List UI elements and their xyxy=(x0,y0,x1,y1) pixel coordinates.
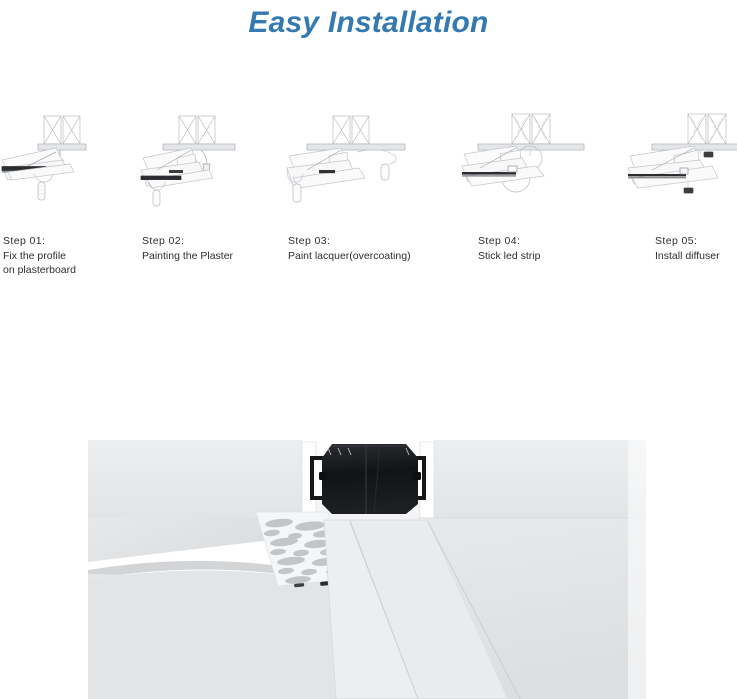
installation-step-5-line1: Install diffuser xyxy=(655,249,737,264)
installation-step-3-line1: Paint lacquer(overcoating) xyxy=(288,249,438,264)
page-root: Easy Installation xyxy=(0,0,737,699)
installation-steps: Step 01: Fix the profile on plasterboard xyxy=(0,108,737,283)
installation-step-2-line1: Painting the Plaster xyxy=(142,249,292,264)
installation-step-1-line1: Fix the profile xyxy=(3,249,153,264)
installation-step-3: Step 03: Paint lacquer(overcoating) xyxy=(285,108,435,283)
page-header: Easy Installation xyxy=(0,0,737,46)
installation-step-1-labels: Step 01: Fix the profile on plasterboard xyxy=(3,234,153,278)
installation-step-4-line1: Stick led strip xyxy=(478,249,628,264)
page-title: Easy Installation xyxy=(248,6,488,40)
installation-step-3-heading: Step 03: xyxy=(288,234,438,249)
installation-step-4-heading: Step 04: xyxy=(478,234,628,249)
led-strip-sticking-diagram-icon xyxy=(460,108,610,228)
product-photo-svg xyxy=(88,422,646,699)
plaster-painting-diagram-icon xyxy=(139,108,289,228)
installation-step-2-labels: Step 02: Painting the Plaster xyxy=(142,234,292,263)
installation-step-4-labels: Step 04: Stick led strip xyxy=(478,234,628,263)
ceiling-profile-fix-diagram-icon xyxy=(0,108,150,228)
diffuser-install-diagram-icon xyxy=(622,108,737,228)
installation-step-5-labels: Step 05: Install diffuser xyxy=(655,234,737,263)
installation-step-2: Step 02: Painting the Plaster xyxy=(139,108,289,283)
installation-step-1: Step 01: Fix the profile on plasterboard xyxy=(0,108,150,283)
installation-step-2-heading: Step 02: xyxy=(142,234,292,249)
installation-step-5-heading: Step 05: xyxy=(655,234,737,249)
lacquer-overcoating-diagram-icon xyxy=(285,108,435,228)
installation-step-5: Step 05: Install diffuser xyxy=(652,108,737,283)
installation-step-1-line2: on plasterboard xyxy=(3,263,153,278)
installation-step-1-heading: Step 01: xyxy=(3,234,153,249)
installation-step-3-labels: Step 03: Paint lacquer(overcoating) xyxy=(288,234,438,263)
recessed-led-aluminium-profile-photo xyxy=(88,422,646,699)
installation-step-4: Step 04: Stick led strip xyxy=(475,108,625,283)
